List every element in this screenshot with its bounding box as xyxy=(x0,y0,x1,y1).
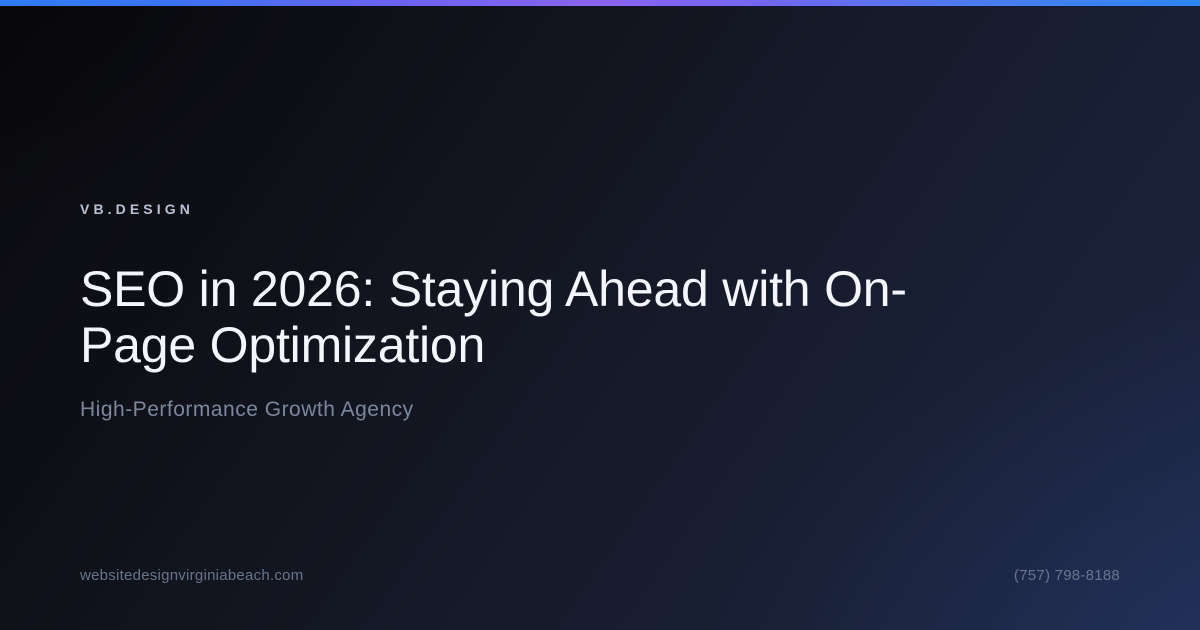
card-footer: websitedesignvirginiabeach.com (757) 798… xyxy=(80,567,1120,584)
page-title: SEO in 2026: Staying Ahead with On-Page … xyxy=(80,261,940,373)
tagline: High-Performance Growth Agency xyxy=(80,398,414,422)
footer-website-url: websitedesignvirginiabeach.com xyxy=(80,567,303,584)
social-share-card: VB.DESIGN SEO in 2026: Staying Ahead wit… xyxy=(0,0,1200,630)
footer-phone-number: (757) 798-8188 xyxy=(1014,567,1120,584)
brand-eyebrow: VB.DESIGN xyxy=(80,201,194,217)
card-content: VB.DESIGN SEO in 2026: Staying Ahead wit… xyxy=(80,0,1120,630)
